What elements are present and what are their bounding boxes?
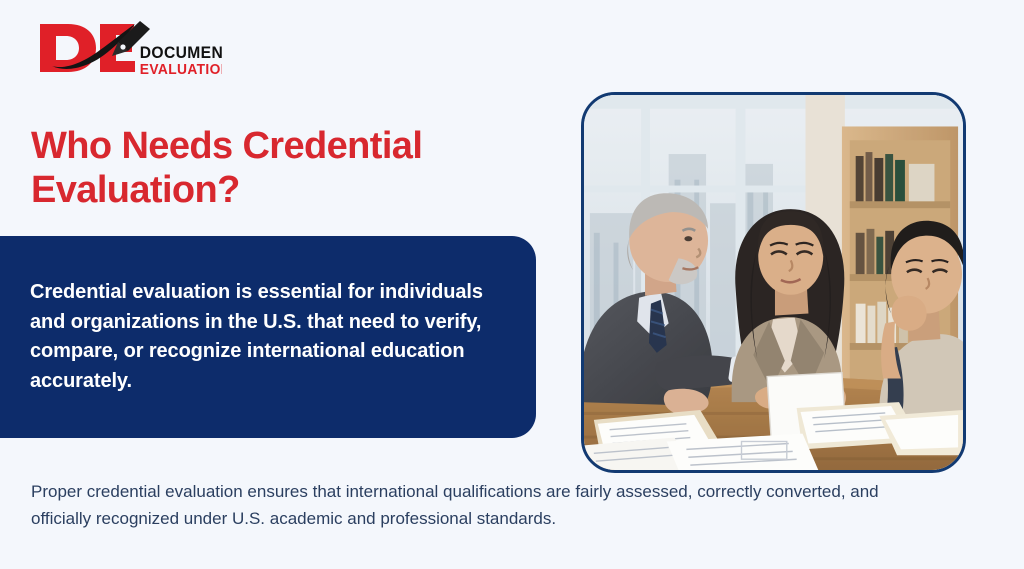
meeting-photo-graphic — [584, 95, 963, 470]
callout-text: Credential evaluation is essential for i… — [0, 278, 536, 396]
logo-wordmark-line2: EVALUATION — [140, 62, 222, 79]
page-title: Who Needs Credential Evaluation? — [31, 124, 551, 212]
meeting-photo — [581, 92, 966, 473]
logo-letter-d — [40, 24, 96, 72]
brand-logo[interactable]: DOCUMENT EVALUATION — [22, 10, 222, 82]
footer-description: Proper credential evaluation ensures tha… — [31, 478, 931, 532]
brand-logo-graphic: DOCUMENT EVALUATION — [22, 10, 222, 82]
callout-banner: Credential evaluation is essential for i… — [0, 236, 536, 438]
logo-wordmark-line1: DOCUMENT — [140, 43, 222, 62]
pen-nib-hole-icon — [120, 44, 125, 49]
